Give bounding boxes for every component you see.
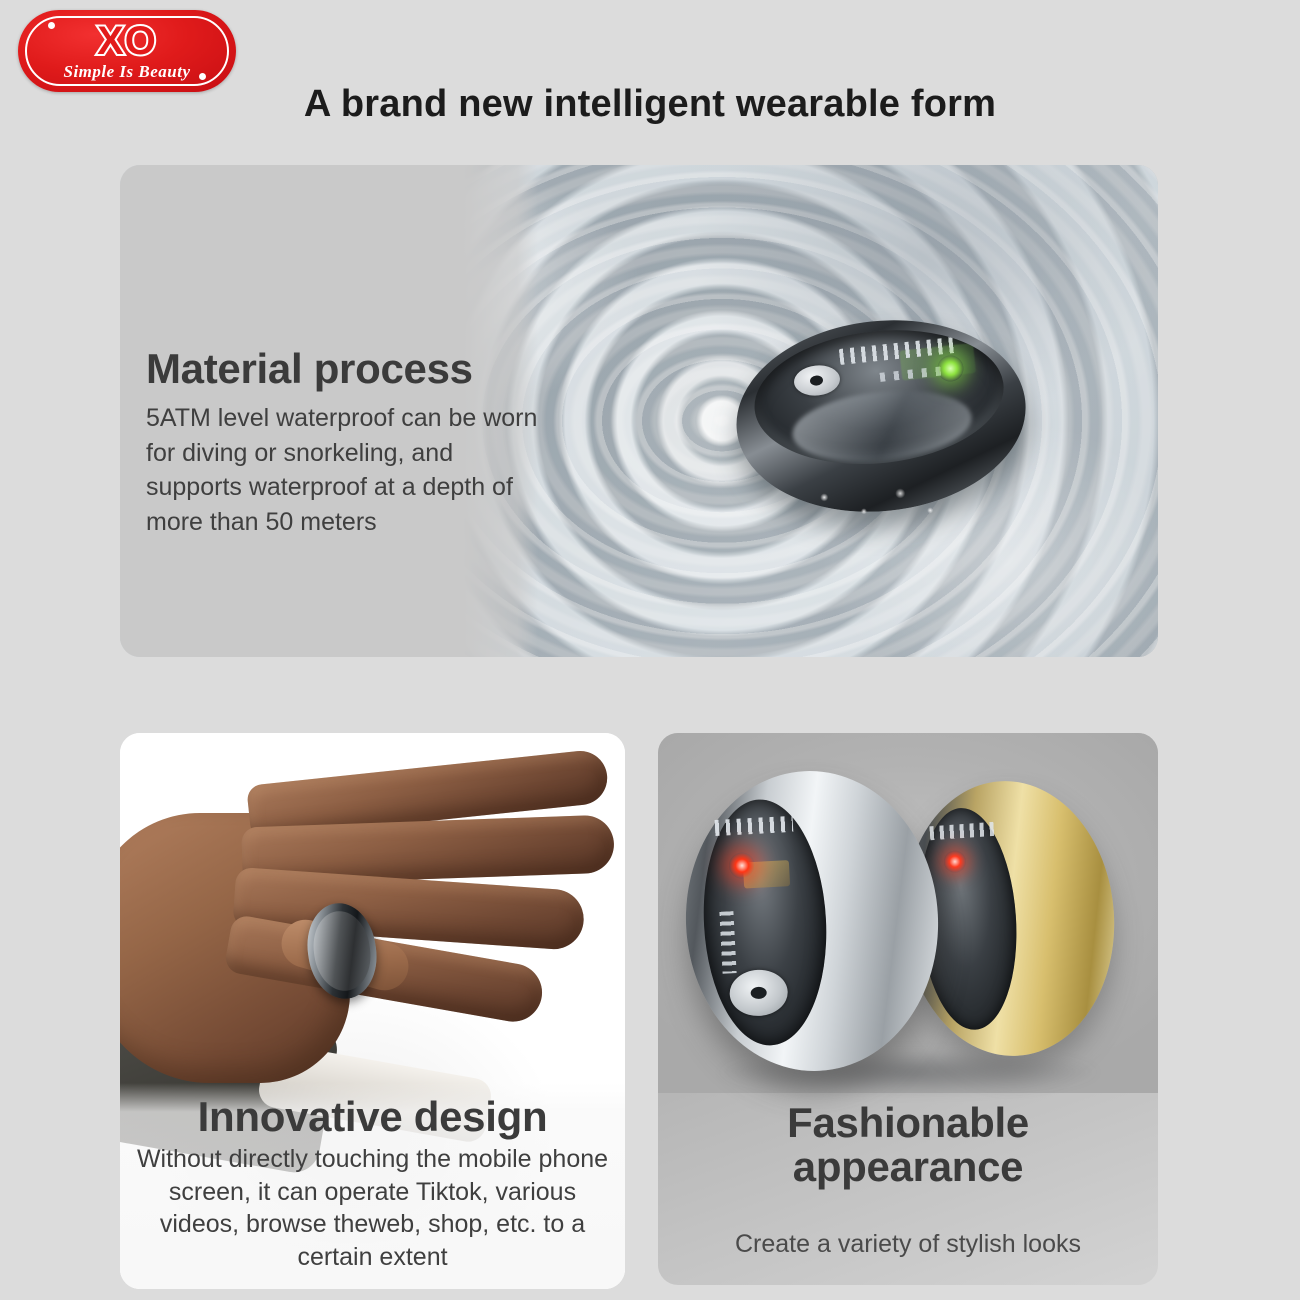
page-title: A brand new intelligent wearable form	[0, 83, 1300, 126]
xo-brand-logo: XO Simple Is Beauty	[18, 10, 236, 92]
rings-product-image	[658, 733, 1158, 1093]
gold-ring-contacts	[929, 822, 996, 841]
innovative-design-panel: Innovative design Without directly touch…	[120, 733, 625, 1289]
silver-smart-ring	[678, 765, 945, 1078]
fashion-body: Create a variety of stylish looks	[674, 1227, 1142, 1262]
material-heading: Material process	[146, 347, 546, 391]
fashionable-appearance-panel: Fashionable appearance Create a variety …	[658, 733, 1158, 1285]
innovative-heading: Innovative design	[134, 1095, 611, 1139]
fashion-heading: Fashionable appearance	[674, 1101, 1142, 1189]
ring-sensor-icon	[793, 363, 842, 398]
fashion-text-block: Fashionable appearance Create a variety …	[658, 1101, 1158, 1262]
smart-ring-in-water	[725, 288, 1037, 542]
material-text-block: Material process 5ATM level waterproof c…	[146, 347, 546, 539]
innovative-text-block: Innovative design Without directly touch…	[120, 1083, 625, 1289]
material-body: 5ATM level waterproof can be worn for di…	[146, 401, 546, 539]
red-led-icon	[943, 850, 966, 873]
page-header: XO Simple Is Beauty A brand new intellig…	[0, 0, 1300, 140]
logo-tagline: Simple Is Beauty	[18, 62, 236, 82]
ring-band	[727, 306, 1035, 525]
innovative-body: Without directly touching the mobile pho…	[134, 1143, 611, 1273]
logo-wordmark: XO	[18, 21, 236, 61]
ring-inner-cavity	[748, 318, 1010, 475]
material-process-panel: Material process 5ATM level waterproof c…	[120, 165, 1158, 657]
